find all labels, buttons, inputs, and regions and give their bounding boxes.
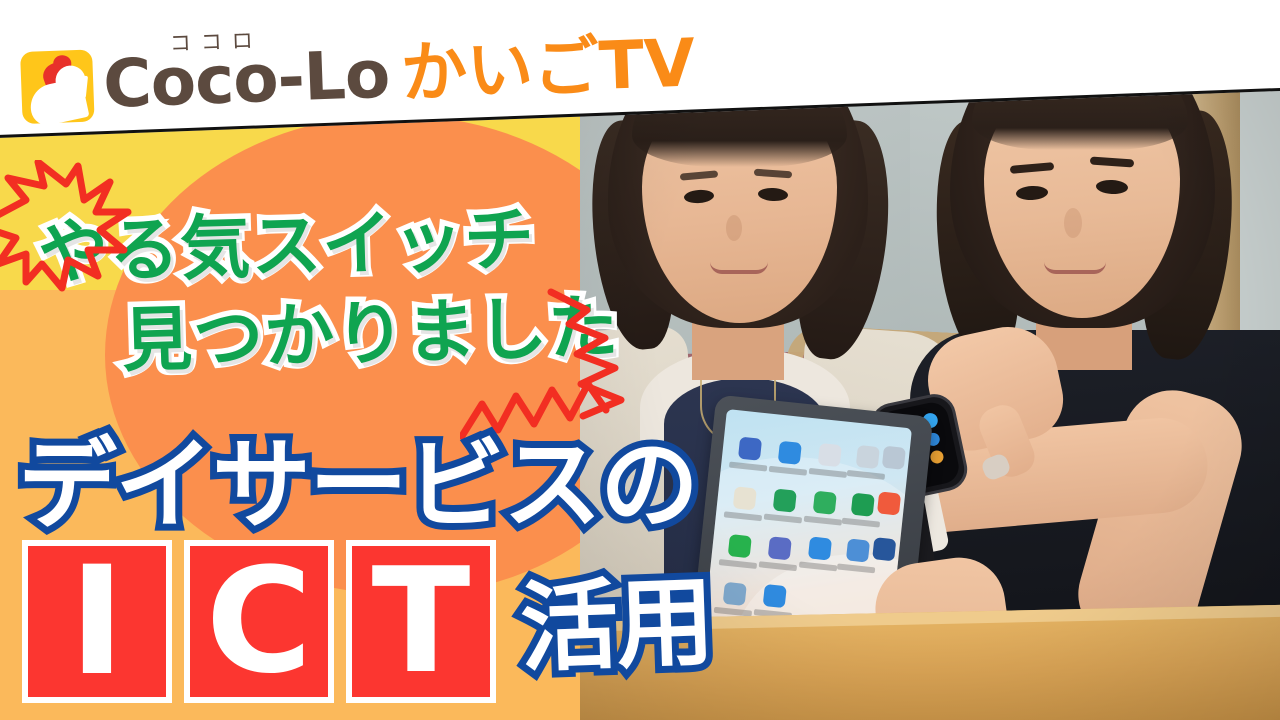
hand-holding-heart-icon [20,49,95,124]
nose [726,215,742,241]
ict-letter-box: C [184,540,334,703]
ict-emphasis-row: I C T [22,540,496,703]
headline-trailing-word: 活用 [518,543,715,692]
mouth [1044,262,1106,274]
ict-letter-box: I [22,540,172,703]
nose [1064,208,1082,238]
kokoro-ruby-text: ココロ [169,24,263,57]
headline-blue-line: デイサービスの [18,404,697,548]
ict-letter-box: T [346,540,496,703]
channel-suffix-text: かいごTV [400,32,696,105]
thumbnail-canvas: oc [0,0,1280,720]
mouth [710,262,768,274]
zigzag-accent-topleft [0,160,132,300]
logo-banner-content: ココロ Coco-Lo かいごTV [20,18,697,133]
brand-lockup: ココロ Coco-Lo かいごTV [102,32,696,116]
hand-fingers [57,74,88,109]
